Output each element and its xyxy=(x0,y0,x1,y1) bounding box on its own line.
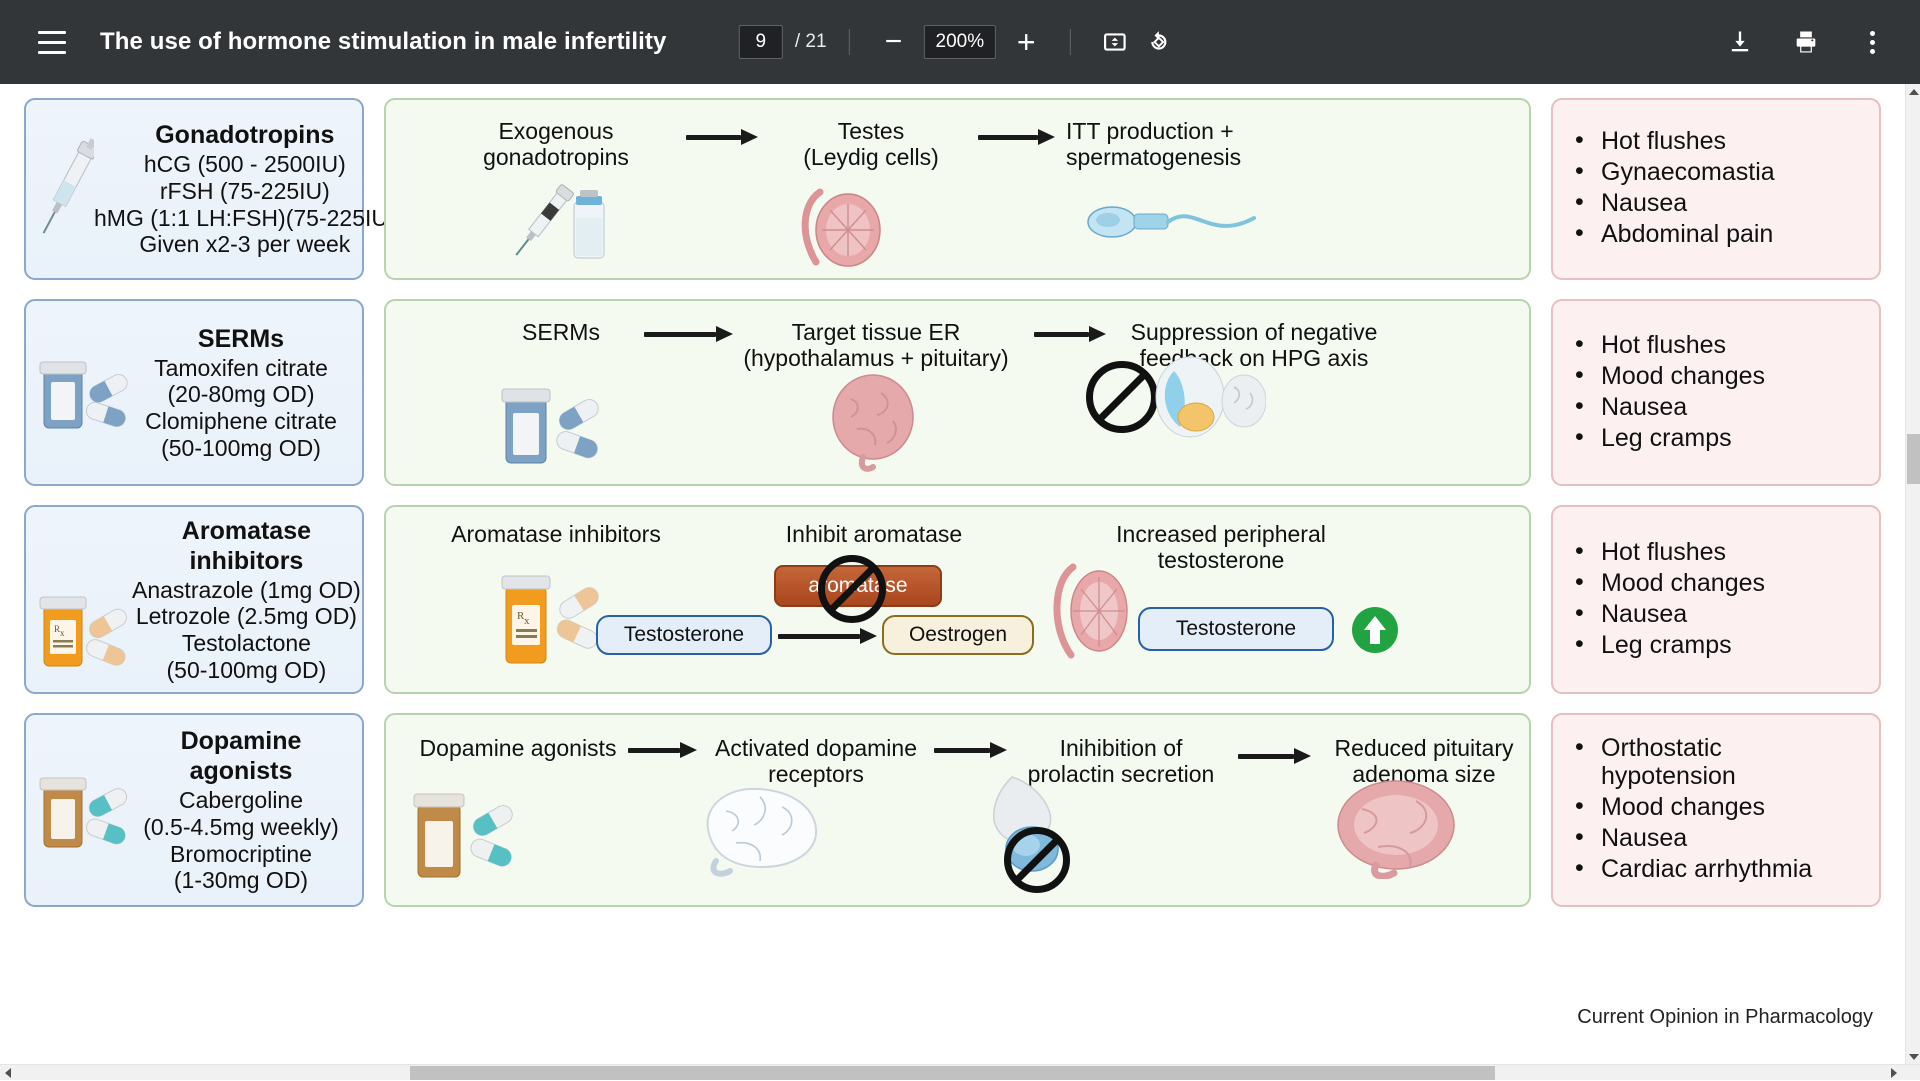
side-effect-item: Mood changes xyxy=(1571,362,1765,390)
green-up-arrow-icon xyxy=(1352,607,1398,653)
rotate-counterclockwise-icon xyxy=(1146,29,1172,55)
pdf-page-viewport[interactable]: Gonadotropins hCG (500 - 2500IU) rFSH (7… xyxy=(0,84,1905,1064)
pdf-page-9: Gonadotropins hCG (500 - 2500IU) rFSH (7… xyxy=(0,84,1905,926)
side-effect-item: Hot flushes xyxy=(1571,538,1765,566)
oestrogen-tag: Oestrogen xyxy=(882,615,1034,655)
no-entry-icon xyxy=(818,555,886,623)
journal-credit: Current Opinion in Pharmacology xyxy=(1577,1006,1873,1029)
syringe-and-vial-icon xyxy=(496,180,626,272)
drug-title: Gonadotropins xyxy=(94,120,396,150)
drug-card-text: Dopamine agonists Cabergoline (0.5-4.5mg… xyxy=(132,726,350,894)
side-effect-item: Mood changes xyxy=(1571,569,1765,597)
mechanism-step-label: Target tissue ER (hypothalamus + pituita… xyxy=(726,319,1026,371)
drug-dose-line: (0.5-4.5mg weekly) xyxy=(132,814,350,841)
drug-dose-line: Bromocriptine xyxy=(132,841,350,868)
pill-bottle-brown-icon xyxy=(406,781,536,889)
drug-dose-line: Tamoxifen citrate xyxy=(132,355,350,382)
drug-title: SERMs xyxy=(132,324,350,354)
pill-bottle-blue-icon xyxy=(496,373,626,473)
side-effect-item: Nausea xyxy=(1571,393,1765,421)
drug-dose-line: Cabergoline xyxy=(132,787,350,814)
drug-dose-line: Anastrazole (1mg OD) xyxy=(132,577,361,604)
horizontal-scrollbar[interactable] xyxy=(0,1064,1920,1080)
hamburger-menu-icon[interactable] xyxy=(30,20,74,64)
flow-arrow-icon xyxy=(778,631,878,641)
side-effect-item: Leg cramps xyxy=(1571,631,1765,659)
drug-dose-line: hCG (500 - 2500IU) xyxy=(94,151,396,178)
fit-to-page-button[interactable] xyxy=(1093,20,1137,64)
side-effects-list: Orthostatic hypotension Mood changes Nau… xyxy=(1571,734,1821,886)
pill-bottle-blue-icon xyxy=(36,348,132,438)
testosterone-result-tag: Testosterone xyxy=(1138,607,1334,651)
flow-arrow-icon xyxy=(1034,329,1106,339)
zoom-level-display[interactable]: 200% xyxy=(924,25,997,59)
mechanism-step-label: Inhibit aromatase xyxy=(754,521,994,547)
side-effect-item: Hot flushes xyxy=(1571,331,1765,359)
page-and-zoom-controls: 9 / 21 − 200% + xyxy=(739,20,1181,64)
plus-icon: + xyxy=(1017,26,1036,58)
drug-card-aromatase-inhibitors: Rx Aromatase inhibitors xyxy=(24,505,364,694)
drug-dose-line: rFSH (75-225IU) xyxy=(94,178,396,205)
zoom-out-button[interactable]: − xyxy=(872,20,916,64)
svg-text:x: x xyxy=(524,615,530,627)
drug-card-text: Aromatase inhibitors Anastrazole (1mg OD… xyxy=(132,516,361,684)
drug-card-serms: SERMs Tamoxifen citrate (20-80mg OD) Clo… xyxy=(24,299,364,486)
more-options-button[interactable] xyxy=(1850,20,1894,64)
side-effects-card-gonadotropins: Hot flushes Gynaecomastia Nausea Abdomin… xyxy=(1551,98,1881,280)
drug-dose-line: (1-30mg OD) xyxy=(132,867,350,894)
side-effects-card-dopamine-agonists: Orthostatic hypotension Mood changes Nau… xyxy=(1551,713,1881,907)
scroll-down-arrow-icon[interactable] xyxy=(1906,1049,1920,1064)
figure-row-aromatase-inhibitors: Rx Aromatase inhibitors xyxy=(0,505,1905,694)
mechanism-step-label: ITT production + spermatogenesis xyxy=(1066,118,1346,170)
figure-row-dopamine-agonists: Dopamine agonists Cabergoline (0.5-4.5mg… xyxy=(0,713,1905,907)
flow-arrow-icon xyxy=(978,132,1056,142)
print-icon xyxy=(1792,28,1820,56)
horizontal-scrollbar-thumb[interactable] xyxy=(410,1066,1495,1080)
vertical-scrollbar-thumb[interactable] xyxy=(1907,434,1920,484)
side-effect-item: Nausea xyxy=(1571,824,1821,852)
drug-dose-line: (50-100mg OD) xyxy=(132,657,361,684)
document-title: The use of hormone stimulation in male i… xyxy=(100,28,666,56)
drug-dose-line: (50-100mg OD) xyxy=(132,435,350,462)
flow-arrow-icon xyxy=(628,745,698,755)
pituitary-icon xyxy=(1146,351,1266,443)
side-effect-item: Nausea xyxy=(1571,600,1765,628)
side-effects-list: Hot flushes Gynaecomastia Nausea Abdomin… xyxy=(1571,127,1775,251)
mechanism-card-gonadotropins: Exogenous gonadotropins Testes (Leydig c… xyxy=(384,98,1531,280)
side-effect-item: Gynaecomastia xyxy=(1571,158,1775,186)
drug-title: Aromatase inhibitors xyxy=(132,516,361,576)
drug-card-text: SERMs Tamoxifen citrate (20-80mg OD) Clo… xyxy=(132,324,350,462)
testosterone-tag: Testosterone xyxy=(596,615,772,655)
side-effect-item: Cardiac arrhythmia xyxy=(1571,855,1821,883)
minus-icon: − xyxy=(885,27,903,57)
download-icon xyxy=(1726,28,1754,56)
spermatozoon-icon xyxy=(1086,196,1256,248)
pill-bottle-orange-icon: Rx xyxy=(36,580,132,676)
drug-dose-line: (20-80mg OD) xyxy=(132,381,350,408)
side-effect-item: Abdominal pain xyxy=(1571,220,1775,248)
side-effects-card-serms: Hot flushes Mood changes Nausea Leg cram… xyxy=(1551,299,1881,486)
svg-text:x: x xyxy=(60,628,65,638)
side-effect-item: Hot flushes xyxy=(1571,127,1775,155)
toolbar-divider-1 xyxy=(849,29,850,55)
flow-arrow-icon xyxy=(644,329,734,339)
mechanism-card-aromatase-inhibitors: Aromatase inhibitors Inhibit aromatase I… xyxy=(384,505,1531,694)
scroll-up-arrow-icon[interactable] xyxy=(1906,84,1920,99)
flow-arrow-icon xyxy=(1238,751,1312,761)
side-effect-item: Nausea xyxy=(1571,189,1775,217)
mechanism-step-label: Aromatase inhibitors xyxy=(426,521,686,547)
mechanism-card-dopamine-agonists: Dopamine agonists Activated dopamine rec… xyxy=(384,713,1531,907)
no-entry-icon xyxy=(1004,827,1070,893)
adenoma-icon xyxy=(1316,775,1476,879)
drug-card-text: Gonadotropins hCG (500 - 2500IU) rFSH (7… xyxy=(94,120,396,258)
zoom-in-button[interactable]: + xyxy=(1004,20,1048,64)
drug-card-gonadotropins: Gonadotropins hCG (500 - 2500IU) rFSH (7… xyxy=(24,98,364,280)
mechanism-step-label: SERMs xyxy=(486,319,636,345)
drug-dose-line: Clomiphene citrate xyxy=(132,408,350,435)
flow-arrow-icon xyxy=(686,132,758,142)
mechanism-step-label: Dopamine agonists xyxy=(408,735,628,761)
pdf-toolbar: The use of hormone stimulation in male i… xyxy=(0,0,1920,84)
scroll-right-arrow-icon[interactable] xyxy=(1886,1065,1902,1081)
toolbar-divider-2 xyxy=(1070,29,1071,55)
drug-dose-line: Testolactone xyxy=(132,630,361,657)
mechanism-flow: Dopamine agonists Activated dopamine rec… xyxy=(386,715,1529,905)
scroll-left-arrow-icon[interactable] xyxy=(0,1065,16,1081)
mechanism-card-serms: SERMs Target tissue ER (hypothalamus + p… xyxy=(384,299,1531,486)
rotate-button[interactable] xyxy=(1137,20,1181,64)
mechanism-flow: Aromatase inhibitors Inhibit aromatase I… xyxy=(386,507,1529,692)
pill-bottle-brown-icon xyxy=(36,765,132,855)
drug-dose-line: Given x2-3 per week xyxy=(94,231,396,258)
page-total-label: / 21 xyxy=(795,31,827,53)
side-effect-item: Mood changes xyxy=(1571,793,1821,821)
mechanism-flow: SERMs Target tissue ER (hypothalamus + p… xyxy=(386,301,1529,484)
mechanism-step-label: Testes (Leydig cells) xyxy=(771,118,971,170)
figure-row-serms: SERMs Tamoxifen citrate (20-80mg OD) Clo… xyxy=(0,299,1905,486)
side-effect-item: Orthostatic hypotension xyxy=(1571,734,1821,790)
more-options-kebab-icon xyxy=(1870,31,1875,54)
drug-title: Dopamine agonists xyxy=(132,726,350,786)
brain-outline-icon xyxy=(686,777,836,877)
side-effect-item: Leg cramps xyxy=(1571,424,1765,452)
vertical-scrollbar[interactable] xyxy=(1905,84,1920,1064)
fit-to-page-icon xyxy=(1102,29,1128,55)
side-effects-list: Hot flushes Mood changes Nausea Leg cram… xyxy=(1571,331,1765,455)
testis-icon xyxy=(1041,555,1141,665)
print-button[interactable] xyxy=(1784,20,1828,64)
drug-dose-line: hMG (1:1 LH:FSH)(75-225IU) xyxy=(94,205,396,232)
side-effects-list: Hot flushes Mood changes Nausea Leg cram… xyxy=(1571,538,1765,662)
mechanism-flow: Exogenous gonadotropins Testes (Leydig c… xyxy=(386,100,1529,278)
drug-card-dopamine-agonists: Dopamine agonists Cabergoline (0.5-4.5mg… xyxy=(24,713,364,907)
brain-icon xyxy=(811,371,941,475)
testis-icon xyxy=(786,178,896,270)
pill-bottle-orange-icon: Rx xyxy=(494,563,614,675)
syringe-icon xyxy=(40,129,94,249)
side-effects-card-aromatase-inhibitors: Hot flushes Mood changes Nausea Leg cram… xyxy=(1551,505,1881,694)
download-button[interactable] xyxy=(1718,20,1762,64)
page-number-input[interactable]: 9 xyxy=(739,25,783,59)
mechanism-step-label: Exogenous gonadotropins xyxy=(446,118,666,170)
drug-dose-line: Letrozole (2.5mg OD) xyxy=(132,603,361,630)
figure-row-gonadotropins: Gonadotropins hCG (500 - 2500IU) rFSH (7… xyxy=(0,98,1905,280)
